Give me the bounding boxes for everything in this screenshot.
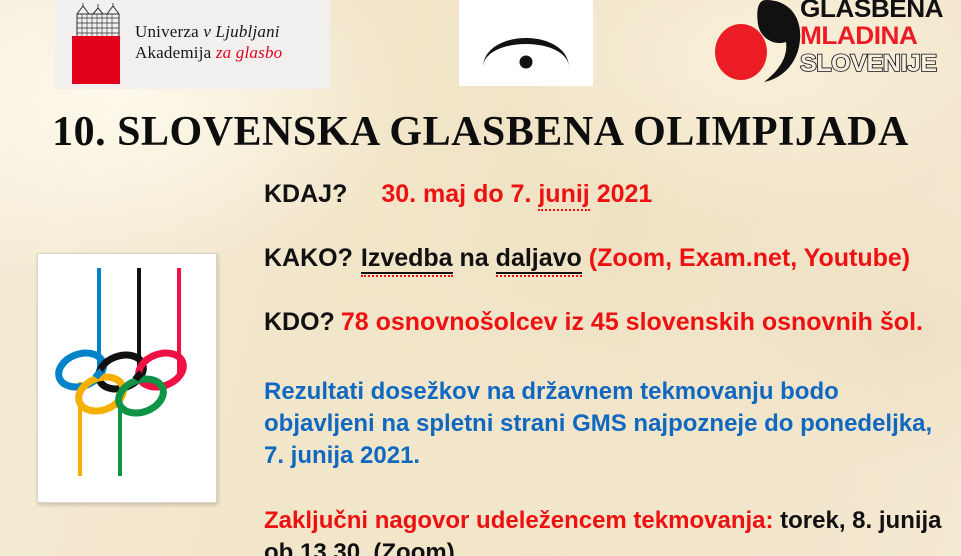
olympic-music-note-graphic bbox=[38, 254, 216, 502]
page-title: 10. SLOVENSKA GLASBENA OLIMPIJADA bbox=[0, 108, 961, 156]
slide-canvas: Univerza v Ljubljani Akademija za glasbo… bbox=[0, 0, 961, 556]
university-logo-line2: Akademija za glasbo bbox=[135, 43, 282, 63]
results-paragraph: Rezultati dosežkov na državnem tekmovanj… bbox=[264, 376, 944, 472]
row-kako: KAKO?Izvedba na daljavo (Zoom, Exam.net,… bbox=[264, 244, 910, 273]
university-red-square bbox=[72, 36, 120, 84]
closing-paragraph: Zaključni nagovor udeležencem tekmovanja… bbox=[264, 505, 954, 556]
fermata-logo bbox=[459, 0, 593, 86]
kdaj-label: KDAJ? bbox=[264, 180, 347, 208]
kako-word-izvedba: Izvedba bbox=[361, 244, 453, 274]
gms-comma-mark bbox=[712, 0, 808, 84]
row-kdaj: KDAJ?30. maj do 7. junij 2021 bbox=[264, 180, 652, 209]
university-building-icon bbox=[71, 2, 125, 38]
kako-label: KAKO? bbox=[264, 244, 353, 272]
kdo-label: KDO? bbox=[264, 308, 335, 336]
row-kdo: KDO?78 osnovnošolcev iz 45 slovenskih os… bbox=[264, 308, 923, 337]
kako-word-na: na bbox=[453, 244, 496, 272]
gms-word-slovenije: SLOVENIJE bbox=[800, 50, 924, 77]
closing-heading: Zaključni nagovor udeležencem tekmovanja… bbox=[264, 507, 773, 534]
university-of-ljubljana-logo: Univerza v Ljubljani Akademija za glasbo bbox=[55, 0, 330, 89]
university-crest-mark bbox=[69, 2, 127, 84]
kako-word-daljavo: daljavo bbox=[496, 244, 582, 274]
gms-wordmark: GLASBENA MLADINA SLOVENIJE bbox=[800, 0, 918, 77]
logo-band: Univerza v Ljubljani Akademija za glasbo… bbox=[0, 0, 961, 92]
gms-word-mladina: MLADINA bbox=[800, 23, 924, 50]
kdaj-value-junij: junij bbox=[538, 180, 589, 211]
kdaj-value-a: 30. maj do 7. bbox=[381, 180, 538, 208]
kako-platforms: (Zoom, Exam.net, Youtube) bbox=[582, 244, 910, 272]
university-logo-line1: Univerza v Ljubljani bbox=[135, 22, 282, 42]
glasbena-mladina-slovenije-logo: GLASBENA MLADINA SLOVENIJE bbox=[712, 0, 917, 84]
kdaj-value-c: 2021 bbox=[590, 180, 653, 208]
gms-word-glasbena: GLASBENA bbox=[800, 0, 924, 23]
olympic-rings-musical-notes-image bbox=[37, 253, 217, 503]
university-logo-text: Univerza v Ljubljani Akademija za glasbo bbox=[135, 22, 282, 62]
kdo-value: 78 osnovnošolcev iz 45 slovenskih osnovn… bbox=[341, 308, 923, 336]
fermata-icon bbox=[471, 6, 581, 76]
